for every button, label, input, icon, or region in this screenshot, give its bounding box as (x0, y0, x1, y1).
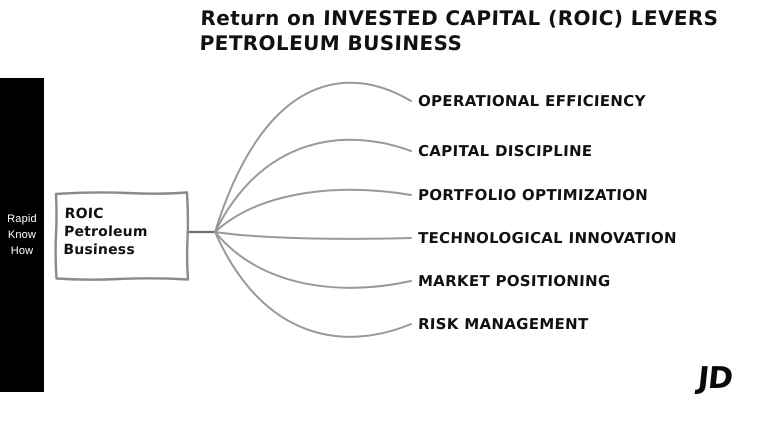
central-node: ROIC Petroleum Business (53, 189, 190, 283)
lever-label-5: MARKET POSITIONING (418, 272, 611, 290)
sidebar-line-3: How (11, 243, 34, 259)
branch-curve-3 (215, 190, 411, 232)
slide-canvas: Rapid Know How Return on INVESTED CAPITA… (0, 0, 768, 432)
branch-curve-5 (215, 232, 411, 288)
central-node-text: ROIC Petroleum Business (63, 205, 149, 259)
page-title-line-1: Return on INVESTED CAPITAL (ROIC) LEVERS (200, 6, 761, 31)
branch-curve-1 (215, 83, 411, 232)
central-node-line-2: Petroleum (64, 223, 148, 241)
page-title-line-2: PETROLEUM BUSINESS (199, 31, 760, 56)
page-title-lead: Return on (200, 6, 324, 30)
branch-curve-4 (215, 232, 411, 239)
page-title-main: INVESTED CAPITAL (ROIC) LEVERS (323, 6, 719, 30)
lever-label-4: TECHNOLOGICAL INNOVATION (418, 229, 677, 247)
central-node-line-3: Business (63, 241, 147, 259)
branch-curve-2 (215, 140, 411, 232)
author-signature: JD (696, 361, 734, 396)
sidebar-line-2: Know (8, 227, 36, 243)
branch-curve-6 (215, 232, 411, 337)
lever-label-1: OPERATIONAL EFFICIENCY (418, 92, 646, 110)
central-node-line-1: ROIC (64, 205, 148, 223)
lever-label-6: RISK MANAGEMENT (418, 315, 589, 333)
lever-label-2: CAPITAL DISCIPLINE (418, 142, 593, 160)
brand-sidebar: Rapid Know How (0, 78, 44, 392)
lever-label-3: PORTFOLIO OPTIMIZATION (418, 186, 649, 204)
sidebar-line-1: Rapid (7, 211, 37, 227)
page-title: Return on INVESTED CAPITAL (ROIC) LEVERS… (199, 6, 761, 56)
